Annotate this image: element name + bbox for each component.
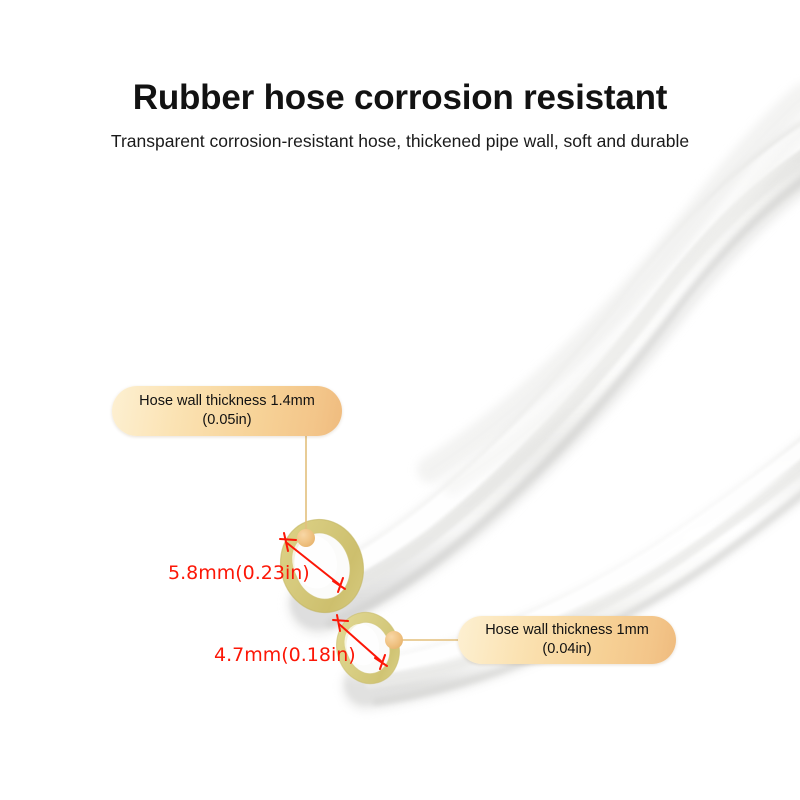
dimension-label-inner-diameter-large: 5.8mm(0.23in) bbox=[168, 562, 310, 584]
dimension-label-inner-diameter-small: 4.7mm(0.18in) bbox=[214, 644, 356, 666]
callout-hose-wall-thickness-small: Hose wall thickness 1mm (0.04in) bbox=[458, 616, 676, 664]
page-title: Rubber hose corrosion resistant bbox=[0, 78, 800, 118]
callout-large-line1: Hose wall thickness 1.4mm bbox=[139, 392, 315, 411]
product-infographic: Rubber hose corrosion resistant Transpar… bbox=[0, 0, 800, 800]
callout-small-line2: (0.04in) bbox=[485, 640, 649, 659]
callout-hose-wall-thickness-large: Hose wall thickness 1.4mm (0.05in) bbox=[112, 386, 342, 436]
callout-large-line2: (0.05in) bbox=[139, 411, 315, 430]
hose-background-arcs bbox=[430, 96, 800, 486]
callout-small-line1: Hose wall thickness 1mm bbox=[485, 621, 649, 640]
page-subtitle: Transparent corrosion-resistant hose, th… bbox=[0, 131, 800, 152]
